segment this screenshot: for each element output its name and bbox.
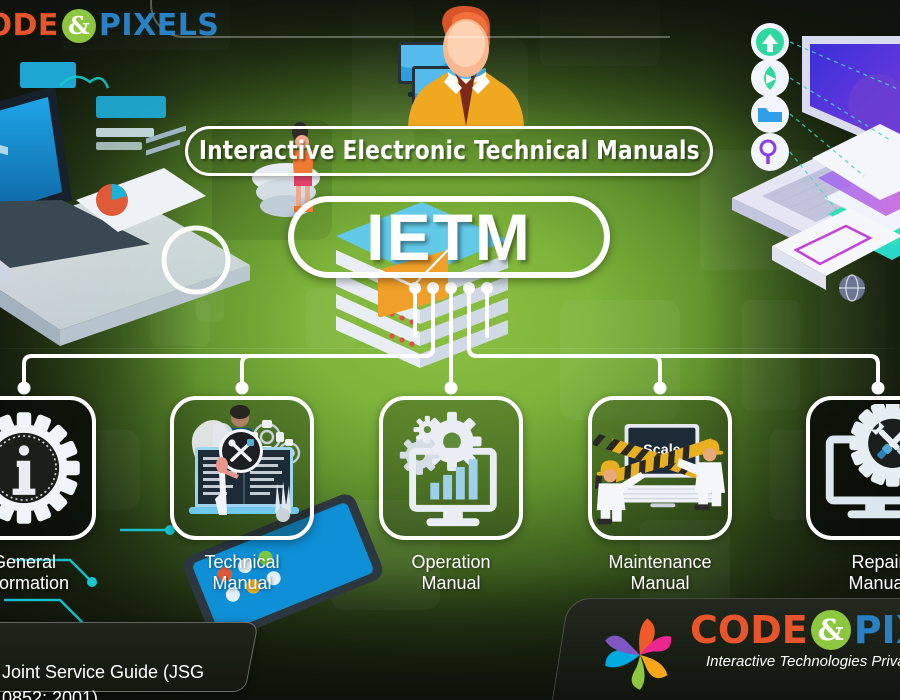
card-maintenance-manual[interactable]: Scale [588, 396, 732, 594]
header-curve-divider [150, 0, 670, 38]
page-title: Interactive Electronic Technical Manuals [185, 126, 713, 176]
footer-logo-text: CODE & PIXELS Interactive Technologies P… [690, 608, 900, 670]
page-title-text: Interactive Electronic Technical Manuals [199, 136, 700, 166]
laptop-tools-icon [177, 403, 307, 533]
header-logo[interactable]: CODE & PIXELS [0, 8, 219, 43]
acronym-badge: IETM [288, 196, 610, 278]
background-vignette [0, 0, 900, 700]
card-technical-manual[interactable]: Technical Manual [170, 396, 314, 594]
header-logo-pixels: PIXELS [99, 8, 220, 43]
footer-logo-wordmark: CODE & PIXELS [690, 608, 900, 652]
footer-tagline: Interactive Technologies Private Limited [706, 653, 900, 670]
card-operation-manual-label: Operation Manual [379, 552, 523, 594]
card-repair-manual-label: Repair Manual [806, 552, 900, 594]
gear-info-icon [0, 406, 86, 530]
infographic-canvas: CODE & PIXELS Interactive Electronic Tec… [0, 0, 900, 700]
header-logo-ampersand: & [62, 9, 96, 43]
standard-badge: Joint Service Guide (JSG 0852: 2001) Rea… [0, 622, 259, 692]
standard-badge-line1: Joint Service Guide (JSG 0852: 2001) [2, 662, 204, 700]
card-technical-manual-box[interactable] [170, 396, 314, 540]
acronym-text: IETM [366, 204, 532, 270]
card-operation-manual-box[interactable] [379, 396, 523, 540]
monitor-gears-chart-icon [387, 404, 515, 532]
footer-logo-code: CODE [690, 608, 808, 652]
standard-badge-text: Joint Service Guide (JSG 0852: 2001) Rea… [0, 623, 244, 700]
pinwheel-logo-icon [594, 612, 686, 698]
footer-logo[interactable]: CODE & PIXELS Interactive Technologies P… [690, 608, 900, 670]
header-logo-code: CODE [0, 8, 59, 43]
card-general-information[interactable]: General Information [0, 396, 96, 594]
card-repair-manual[interactable]: Repair Manual [806, 396, 900, 594]
card-general-information-box[interactable] [0, 396, 96, 540]
card-maintenance-manual-box[interactable]: Scale [588, 396, 732, 540]
card-operation-manual[interactable]: Operation Manual [379, 396, 523, 594]
footer-logo-pixels: PIXELS [854, 608, 900, 652]
card-repair-manual-box[interactable] [806, 396, 900, 540]
footer-logo-ampersand: & [811, 610, 851, 650]
card-technical-manual-label: Technical Manual [170, 552, 314, 594]
laptop-caution-tape-icon: Scale [593, 409, 727, 527]
card-general-information-label: General Information [0, 552, 96, 594]
card-maintenance-manual-label: Maintenance Manual [588, 552, 732, 594]
monitor-gear-tools-icon [814, 404, 900, 532]
